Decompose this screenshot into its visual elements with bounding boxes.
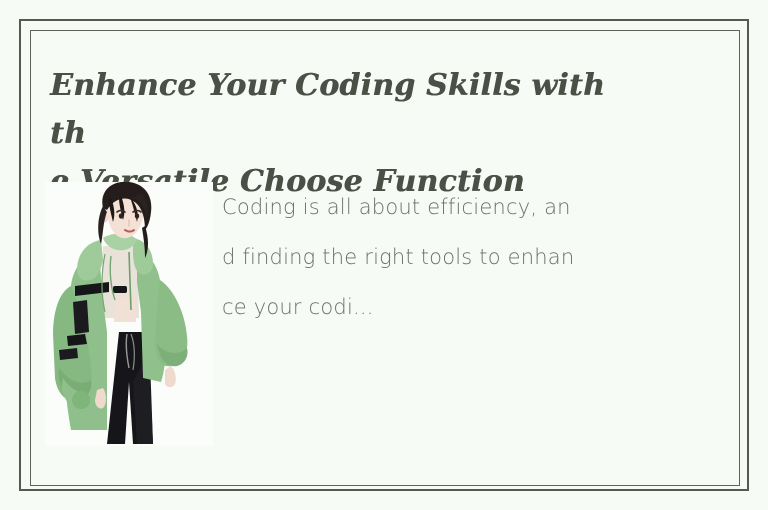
article-card: Enhance Your Coding Skills with th e Ver… [0,0,768,510]
person-illustration-icon [45,182,213,446]
figure-person-green-jacket [45,182,213,446]
body-text: Coding is all about efficiency, an d fin… [222,182,672,332]
